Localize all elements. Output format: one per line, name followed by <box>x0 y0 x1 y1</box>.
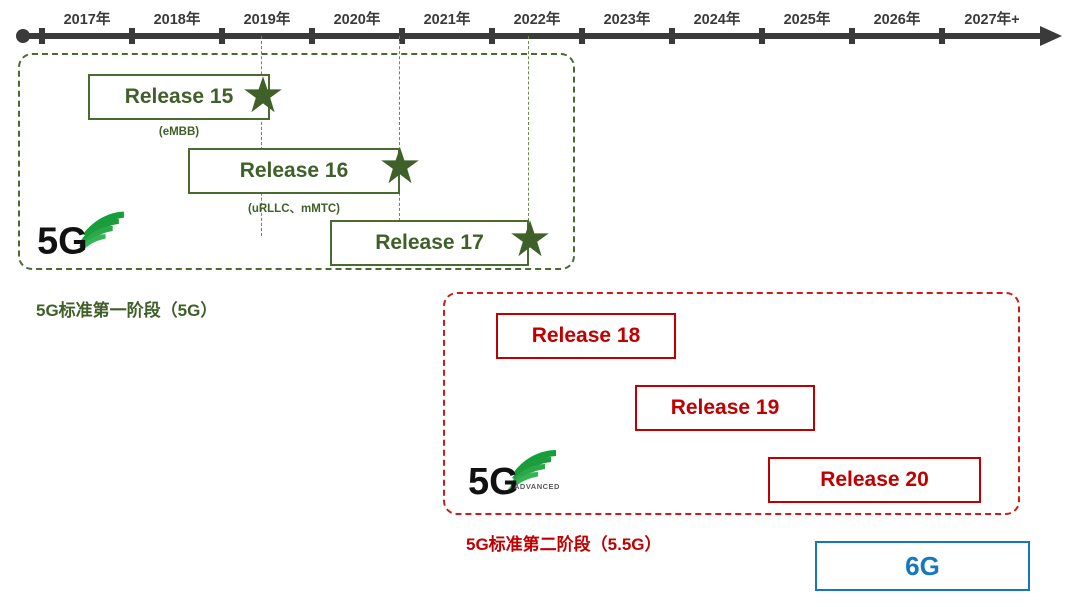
star-icon-release-15 <box>243 75 283 115</box>
year-label-5: 2022年 <box>497 8 577 29</box>
sixg-label: 6G <box>905 551 940 582</box>
axis-line <box>24 33 1044 39</box>
5g-advanced-logo-subtext: ADVANCED <box>514 482 560 491</box>
5g-advanced-logo: 5G ADVANCED <box>466 440 566 502</box>
year-label-8: 2025年 <box>767 8 847 29</box>
release-label: Release 20 <box>820 468 929 492</box>
phase-one-caption: 5G标准第一阶段（5G） <box>36 296 217 321</box>
release-box-17[interactable]: Release 17 <box>330 220 529 266</box>
release-box-16[interactable]: Release 16 <box>188 148 400 194</box>
5g-logo-text: 5G <box>37 220 87 262</box>
axis-arrow-icon <box>1040 26 1062 46</box>
release-label: Release 18 <box>532 324 641 348</box>
axis-tick <box>39 28 45 44</box>
release-label: Release 17 <box>375 231 484 255</box>
axis-tick <box>309 28 315 44</box>
release-16-subtitle: (uRLLC、mMTC) <box>188 200 400 216</box>
release-label: Release 15 <box>125 85 234 109</box>
timeline-diagram: 2017年2018年2019年2020年2021年2022年2023年2024年… <box>0 0 1080 607</box>
timeline-axis <box>16 33 1064 39</box>
axis-tick <box>939 28 945 44</box>
year-label-6: 2023年 <box>587 8 667 29</box>
year-label-10: 2027年+ <box>952 8 1032 29</box>
axis-tick <box>669 28 675 44</box>
star-icon-release-17 <box>510 219 550 259</box>
5g-advanced-logo-text: 5G <box>468 461 519 502</box>
year-label-0: 2017年 <box>47 8 127 29</box>
year-label-1: 2018年 <box>137 8 217 29</box>
year-label-3: 2020年 <box>317 8 397 29</box>
release-15-subtitle: (eMBB) <box>88 126 270 138</box>
axis-tick <box>579 28 585 44</box>
axis-tick <box>759 28 765 44</box>
release-box-19[interactable]: Release 19 <box>635 385 815 431</box>
year-label-7: 2024年 <box>677 8 757 29</box>
release-label: Release 19 <box>671 396 780 420</box>
axis-tick <box>849 28 855 44</box>
sixg-box[interactable]: 6G <box>815 541 1030 591</box>
star-icon-release-16 <box>380 146 420 186</box>
year-label-2: 2019年 <box>227 8 307 29</box>
release-box-18[interactable]: Release 18 <box>496 313 676 359</box>
5g-logo: 5G <box>34 200 126 262</box>
release-box-20[interactable]: Release 20 <box>768 457 981 503</box>
year-label-4: 2021年 <box>407 8 487 29</box>
release-label: Release 16 <box>240 159 349 183</box>
axis-tick <box>489 28 495 44</box>
axis-tick <box>129 28 135 44</box>
year-label-9: 2026年 <box>857 8 937 29</box>
axis-tick <box>219 28 225 44</box>
phase-two-caption: 5G标准第二阶段（5.5G） <box>466 530 662 555</box>
